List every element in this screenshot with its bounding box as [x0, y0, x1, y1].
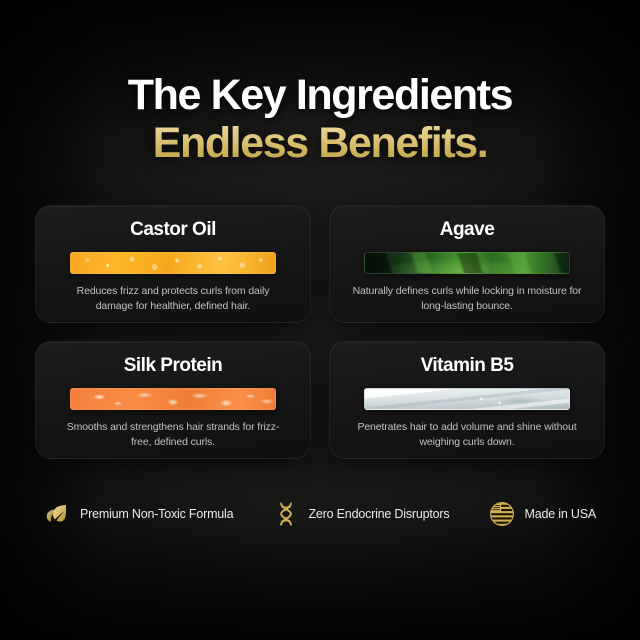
ingredient-card-castor-oil[interactable]: Castor Oil Reduces frizz and protects cu…: [35, 205, 311, 323]
badge-premium-non-toxic-formula: Premium Non-Toxic Formula: [44, 501, 233, 527]
water-ripple-texture: [365, 389, 569, 409]
card-description: Naturally defines curls while locking in…: [352, 284, 582, 314]
badge-made-in-usa: Made in USA: [489, 501, 596, 527]
badge-label: Made in USA: [525, 507, 596, 521]
agave-swatch: [364, 252, 570, 274]
badge-label: Zero Endocrine Disruptors: [309, 507, 450, 521]
card-description: Smooths and strengthens hair strands for…: [58, 420, 288, 450]
silk-protein-swatch: [70, 388, 276, 410]
leaf-texture: [365, 253, 569, 273]
ingredient-card-agave[interactable]: Agave Naturally defines curls while lock…: [329, 205, 605, 323]
badge-zero-endocrine-disruptors: Zero Endocrine Disruptors: [273, 501, 450, 527]
page-title: The Key Ingredients Endless Benefits.: [0, 0, 640, 169]
oil-bubbles-texture: [71, 253, 275, 273]
headline-line-2: Endless Benefits.: [0, 118, 640, 169]
card-title: Silk Protein: [58, 354, 288, 379]
vitamin-b5-swatch: [364, 388, 570, 410]
ingredient-card-grid: Castor Oil Reduces frizz and protects cu…: [35, 205, 605, 459]
ingredients-infographic: The Key Ingredients Endless Benefits. Ca…: [0, 0, 640, 640]
card-title: Agave: [352, 218, 582, 243]
castor-oil-swatch: [70, 252, 276, 274]
card-description: Reduces frizz and protects curls from da…: [58, 284, 288, 314]
dna-icon: [273, 501, 299, 527]
ingredient-card-silk-protein[interactable]: Silk Protein Smooths and strengthens hai…: [35, 341, 311, 459]
headline-line-1: The Key Ingredients: [0, 72, 640, 118]
badge-label: Premium Non-Toxic Formula: [80, 507, 233, 521]
card-title: Castor Oil: [58, 218, 288, 243]
usa-flag-icon: [489, 501, 515, 527]
card-description: Penetrates hair to add volume and shine …: [352, 420, 582, 450]
card-title: Vitamin B5: [352, 354, 582, 379]
ingredient-card-vitamin-b5[interactable]: Vitamin B5 Penetrates hair to add volume…: [329, 341, 605, 459]
leaf-icon: [44, 501, 70, 527]
marble-texture: [71, 389, 275, 409]
trust-badge-row: Premium Non-Toxic Formula Zero Endocr: [30, 501, 610, 527]
